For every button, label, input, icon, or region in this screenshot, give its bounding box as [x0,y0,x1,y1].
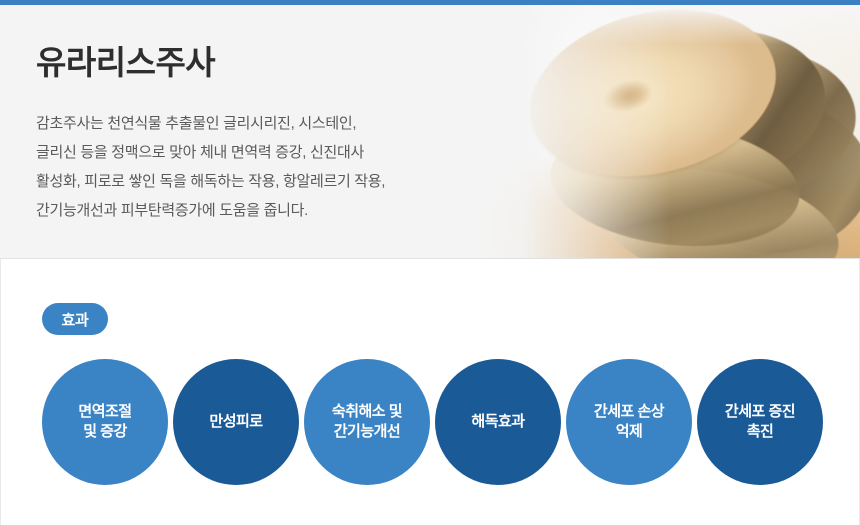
effect-circle-1-label: 면역조절 및 증강 [78,402,131,443]
effect-circle-6-label: 간세포 증진 촉진 [725,402,795,443]
effect-circle-3[interactable]: 숙취해소 및 간기능개선 [304,359,430,485]
effect-circle-1[interactable]: 면역조절 및 증강 [42,359,168,485]
product-info-page: 유라리스주사 감초주사는 천연식물 추출물인 글리시리진, 시스테인, 글리신 … [0,0,860,525]
page-title: 유라리스주사 [36,43,506,83]
effects-section: 효과 면역조절 및 증강 만성피로 숙취해소 및 간기능개선 [0,258,860,525]
hero-description: 감초주사는 천연식물 추출물인 글리시리진, 시스테인, 글리신 등을 정맥으로… [36,109,506,226]
hero-description-line-2: 글리신 등을 정맥으로 맞아 체내 면역력 증강, 신진대사 [36,138,506,167]
hero-section: 유라리스주사 감초주사는 천연식물 추출물인 글리시리진, 시스테인, 글리신 … [0,5,860,258]
effect-circle-3-label: 숙취해소 및 간기능개선 [332,402,402,443]
effects-circle-row: 면역조절 및 증강 만성피로 숙취해소 및 간기능개선 해독효과 [42,359,824,485]
hero-text-block: 유라리스주사 감초주사는 천연식물 추출물인 글리시리진, 시스테인, 글리신 … [36,43,506,226]
photo-left-fade [480,5,670,258]
hero-description-line-4: 간기능개선과 피부탄력증가에 도움을 줍니다. [36,196,506,225]
effect-circle-6[interactable]: 간세포 증진 촉진 [697,359,823,485]
effects-badge: 효과 [42,303,108,335]
effect-circle-4[interactable]: 해독효과 [435,359,561,485]
effect-circle-2[interactable]: 만성피로 [173,359,299,485]
hero-description-line-1: 감초주사는 천연식물 추출물인 글리시리진, 시스테인, [36,109,506,138]
licorice-root-slices-photo [480,5,860,258]
effect-circle-5[interactable]: 간세포 손상 억제 [566,359,692,485]
hero-description-line-3: 활성화, 피로로 쌓인 독을 해독하는 작용, 항알레르기 작용, [36,167,506,196]
effect-circle-2-label: 만성피로 [209,412,262,432]
effect-circle-5-label: 간세포 손상 억제 [594,402,664,443]
effect-circle-4-label: 해독효과 [471,412,524,432]
